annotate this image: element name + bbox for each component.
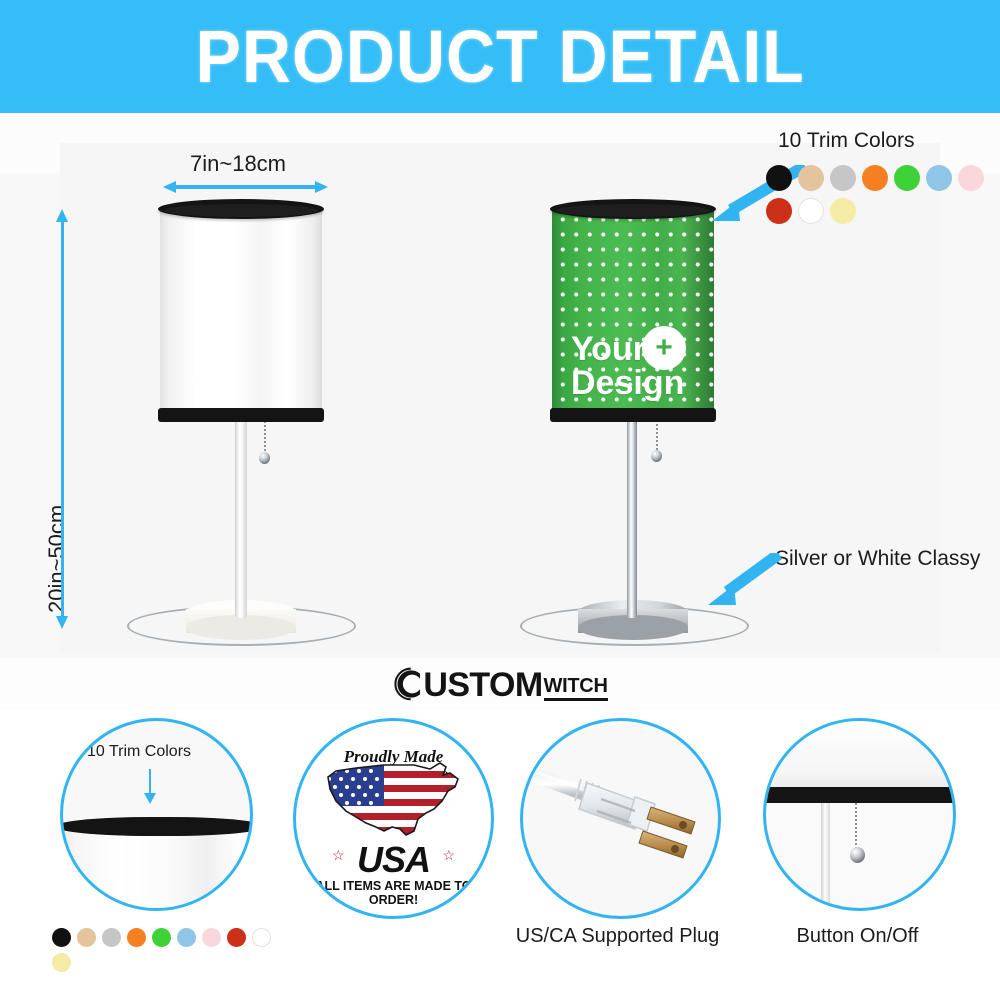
trim-swatch-tan[interactable] xyxy=(77,928,96,947)
shade-surface xyxy=(160,208,322,418)
height-measure-arrow xyxy=(57,209,67,629)
feature-circle-plug xyxy=(520,718,721,919)
pull-chain-closeup[interactable] xyxy=(855,803,859,849)
stand-finish-callout-arrow-icon xyxy=(700,553,790,615)
trim-swatch-yellow[interactable] xyxy=(52,953,71,972)
trim-swatch-light-blue[interactable] xyxy=(177,928,196,947)
width-measure-arrow xyxy=(163,181,328,191)
custom-c-swoosh-icon xyxy=(392,667,426,701)
feature-caption-plug: US/CA Supported Plug xyxy=(500,925,735,948)
arrow-head xyxy=(144,793,156,804)
stand-finish-callout-label: Silver or White Classy xyxy=(775,547,980,571)
header-banner: PRODUCT DETAIL xyxy=(0,0,1000,113)
feature-circle-made-in-usa: Proudly Made in the xyxy=(293,718,494,919)
base-bottom xyxy=(578,615,688,640)
trim-swatch-white[interactable] xyxy=(252,928,271,947)
brand-underline xyxy=(544,698,608,701)
trim-swatch-red[interactable] xyxy=(227,928,246,947)
trim-swatch-black[interactable] xyxy=(52,928,71,947)
trim-swatch-tan[interactable] xyxy=(798,165,824,191)
pull-chain-bead[interactable] xyxy=(259,452,270,464)
trim-color-swatches-bottom xyxy=(52,928,282,978)
design-text-line2: Design xyxy=(571,366,684,400)
shade-bottom-trim xyxy=(158,408,324,422)
main-stage: 7in~18cm 20in~50cm xyxy=(0,113,1000,658)
design-text-line1: Your xyxy=(571,332,646,366)
arrow-bar xyxy=(173,185,318,189)
trim-swatch-orange[interactable] xyxy=(127,928,146,947)
trim-swatch-black[interactable] xyxy=(766,165,792,191)
trim-swatch-gray[interactable] xyxy=(830,165,856,191)
trim-color-swatches xyxy=(766,165,998,231)
trim-swatch-orange[interactable] xyxy=(862,165,888,191)
usa-badge: Proudly Made in the xyxy=(296,721,491,916)
feature-trim-colors-label: 10 Trim Colors xyxy=(87,743,191,761)
width-measure-label: 7in~18cm xyxy=(190,151,286,177)
lamp-shade-white xyxy=(160,208,322,418)
feature-panels: 10 Trim Colors Proudly Made in the xyxy=(0,710,1000,1000)
brand-name-sub: WITCH xyxy=(544,676,608,696)
feature-caption-button: Button On/Off xyxy=(740,925,975,948)
brand-logo: USTOM WITCH xyxy=(0,658,1000,710)
shade-closeup-surface xyxy=(60,829,253,911)
shade-surface: Your + Design xyxy=(552,208,714,418)
star-right-icon: ☆ xyxy=(442,847,455,864)
trim-swatch-pink[interactable] xyxy=(202,928,221,947)
product-detail-page: PRODUCT DETAIL 7in~18cm 20in~50cm xyxy=(0,0,1000,1000)
trim-swatch-green[interactable] xyxy=(152,928,171,947)
pull-chain-bead-closeup[interactable] xyxy=(850,847,865,863)
trim-swatch-light-blue[interactable] xyxy=(926,165,952,191)
usa-flag-map-icon xyxy=(322,757,466,849)
plus-icon: + xyxy=(655,331,673,365)
trim-swatch-gray[interactable] xyxy=(102,928,121,947)
usa-badge-sub: ALL ITEMS ARE MADE TO ORDER! xyxy=(296,879,491,907)
feature-circle-button xyxy=(763,718,956,911)
arrow-bar xyxy=(61,219,64,619)
arrow-head-right-icon xyxy=(315,181,328,193)
trim-swatch-yellow[interactable] xyxy=(830,198,856,224)
lamp-stem-closeup xyxy=(821,803,830,911)
base-bottom xyxy=(186,615,296,640)
pull-chain-bead[interactable] xyxy=(651,450,662,462)
lamp-stem-white xyxy=(235,413,247,618)
trim-swatch-white[interactable] xyxy=(798,198,824,224)
usa-badge-word: USA xyxy=(296,839,491,881)
shade-top-trim-inner xyxy=(164,204,318,217)
page-title: PRODUCT DETAIL xyxy=(195,20,804,94)
trim-swatch-green[interactable] xyxy=(894,165,920,191)
trim-colors-callout-label: 10 Trim Colors xyxy=(778,129,915,153)
shade-closeup-trim-bar xyxy=(763,787,956,803)
trim-swatch-red[interactable] xyxy=(766,198,792,224)
feature-circle-trim-colors: 10 Trim Colors xyxy=(60,718,253,911)
arrow-head-bottom-icon xyxy=(56,616,68,629)
shade-bottom-trim xyxy=(550,408,716,422)
power-plug-icon xyxy=(523,721,718,916)
brand-name-main: USTOM xyxy=(423,670,542,701)
shade-closeup-lower xyxy=(763,718,956,793)
trim-swatch-pink[interactable] xyxy=(958,165,984,191)
shade-top-trim-inner xyxy=(556,204,710,217)
lamp-shade-green: Your + Design xyxy=(552,208,714,418)
arrow-shaft xyxy=(149,769,151,795)
lamp-stem-silver xyxy=(627,413,637,618)
shade-closeup-trim xyxy=(60,817,253,836)
